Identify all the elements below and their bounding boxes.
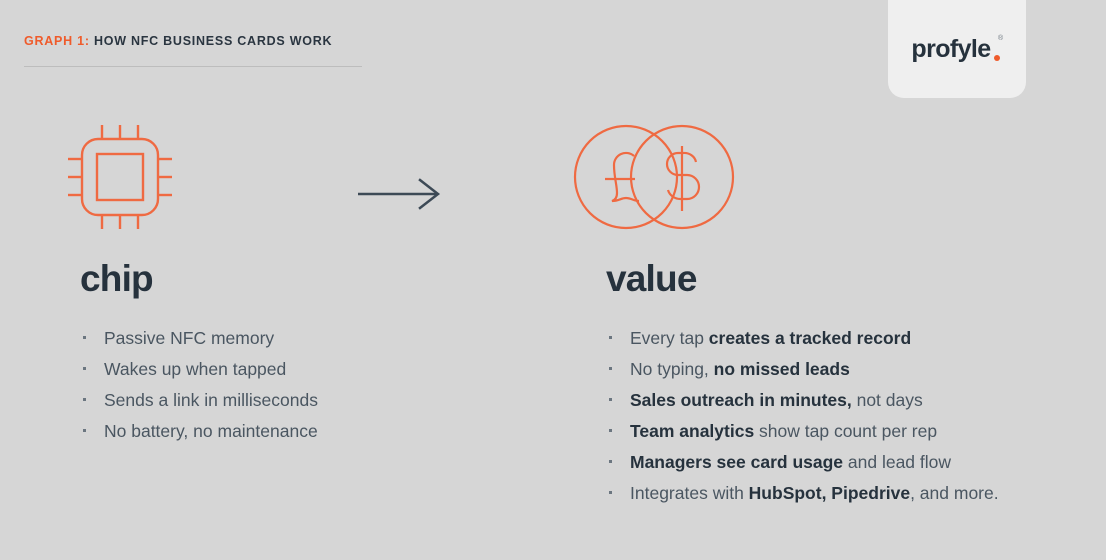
bullet-dot-icon bbox=[609, 398, 612, 401]
column-chip: chip Passive NFC memory Wakes up when ta… bbox=[68, 118, 488, 447]
bullet-dot-icon bbox=[83, 367, 86, 370]
page-title-eyebrow: GRAPH 1: bbox=[24, 34, 90, 48]
list-item: Every tap creates a tracked record bbox=[606, 323, 1072, 354]
chip-icon-wrap bbox=[68, 118, 488, 236]
list-item-text-bold: Sales outreach in minutes, bbox=[630, 390, 852, 410]
bullet-dot-icon bbox=[83, 336, 86, 339]
bullet-dot-icon bbox=[83, 429, 86, 432]
registered-trademark-icon: ® bbox=[998, 35, 1003, 42]
list-item-text: Sends a link in milliseconds bbox=[104, 390, 318, 410]
list-item: No battery, no maintenance bbox=[80, 416, 488, 447]
list-item: Sends a link in milliseconds bbox=[80, 385, 488, 416]
column-heading-chip: chip bbox=[80, 260, 488, 297]
list-item-text: , and more. bbox=[910, 483, 999, 503]
bullet-list-chip: Passive NFC memory Wakes up when tapped … bbox=[80, 323, 488, 447]
list-item-text-bold: creates a tracked record bbox=[709, 328, 911, 348]
chip-icon bbox=[68, 121, 172, 233]
list-item-text: Passive NFC memory bbox=[104, 328, 274, 348]
logo-card: profyle ® bbox=[888, 0, 1026, 98]
logo-text: profyle bbox=[911, 35, 990, 63]
page-title: GRAPH 1: HOW NFC BUSINESS CARDS WORK bbox=[24, 34, 364, 49]
page-title-text: HOW NFC BUSINESS CARDS WORK bbox=[94, 34, 332, 48]
header-divider bbox=[24, 66, 362, 67]
list-item-text: Integrates with bbox=[630, 483, 749, 503]
list-item-text: and lead flow bbox=[843, 452, 951, 472]
list-item: Managers see card usage and lead flow bbox=[606, 447, 1072, 478]
list-item-text-bold: no missed leads bbox=[714, 359, 850, 379]
list-item: Sales outreach in minutes, not days bbox=[606, 385, 1072, 416]
logo-dot-icon bbox=[994, 55, 1000, 61]
list-item-text: Wakes up when tapped bbox=[104, 359, 286, 379]
list-item-text-bold: HubSpot, Pipedrive bbox=[749, 483, 910, 503]
bullet-dot-icon bbox=[609, 336, 612, 339]
list-item-text-bold: Team analytics bbox=[630, 421, 754, 441]
list-item-text: show tap count per rep bbox=[754, 421, 937, 441]
logo-wordmark: profyle ® bbox=[911, 37, 1002, 62]
bullet-dot-icon bbox=[609, 460, 612, 463]
list-item: Wakes up when tapped bbox=[80, 354, 488, 385]
list-item: Passive NFC memory bbox=[80, 323, 488, 354]
list-item: Integrates with HubSpot, Pipedrive, and … bbox=[606, 478, 1072, 509]
list-item: Team analytics show tap count per rep bbox=[606, 416, 1072, 447]
list-item-text: No battery, no maintenance bbox=[104, 421, 318, 441]
currency-circles-icon bbox=[572, 121, 736, 233]
value-icon-wrap bbox=[572, 118, 1072, 236]
bullet-dot-icon bbox=[609, 491, 612, 494]
page-header: GRAPH 1: HOW NFC BUSINESS CARDS WORK bbox=[24, 34, 364, 49]
bullet-dot-icon bbox=[609, 367, 612, 370]
list-item-text: Every tap bbox=[630, 328, 709, 348]
list-item-text: No typing, bbox=[630, 359, 714, 379]
list-item: No typing, no missed leads bbox=[606, 354, 1072, 385]
column-heading-value: value bbox=[606, 260, 1072, 297]
list-item-text: not days bbox=[852, 390, 923, 410]
bullet-dot-icon bbox=[83, 398, 86, 401]
column-value: value Every tap creates a tracked record… bbox=[572, 118, 1072, 509]
bullet-list-value: Every tap creates a tracked record No ty… bbox=[606, 323, 1072, 509]
list-item-text-bold: Managers see card usage bbox=[630, 452, 843, 472]
bullet-dot-icon bbox=[609, 429, 612, 432]
